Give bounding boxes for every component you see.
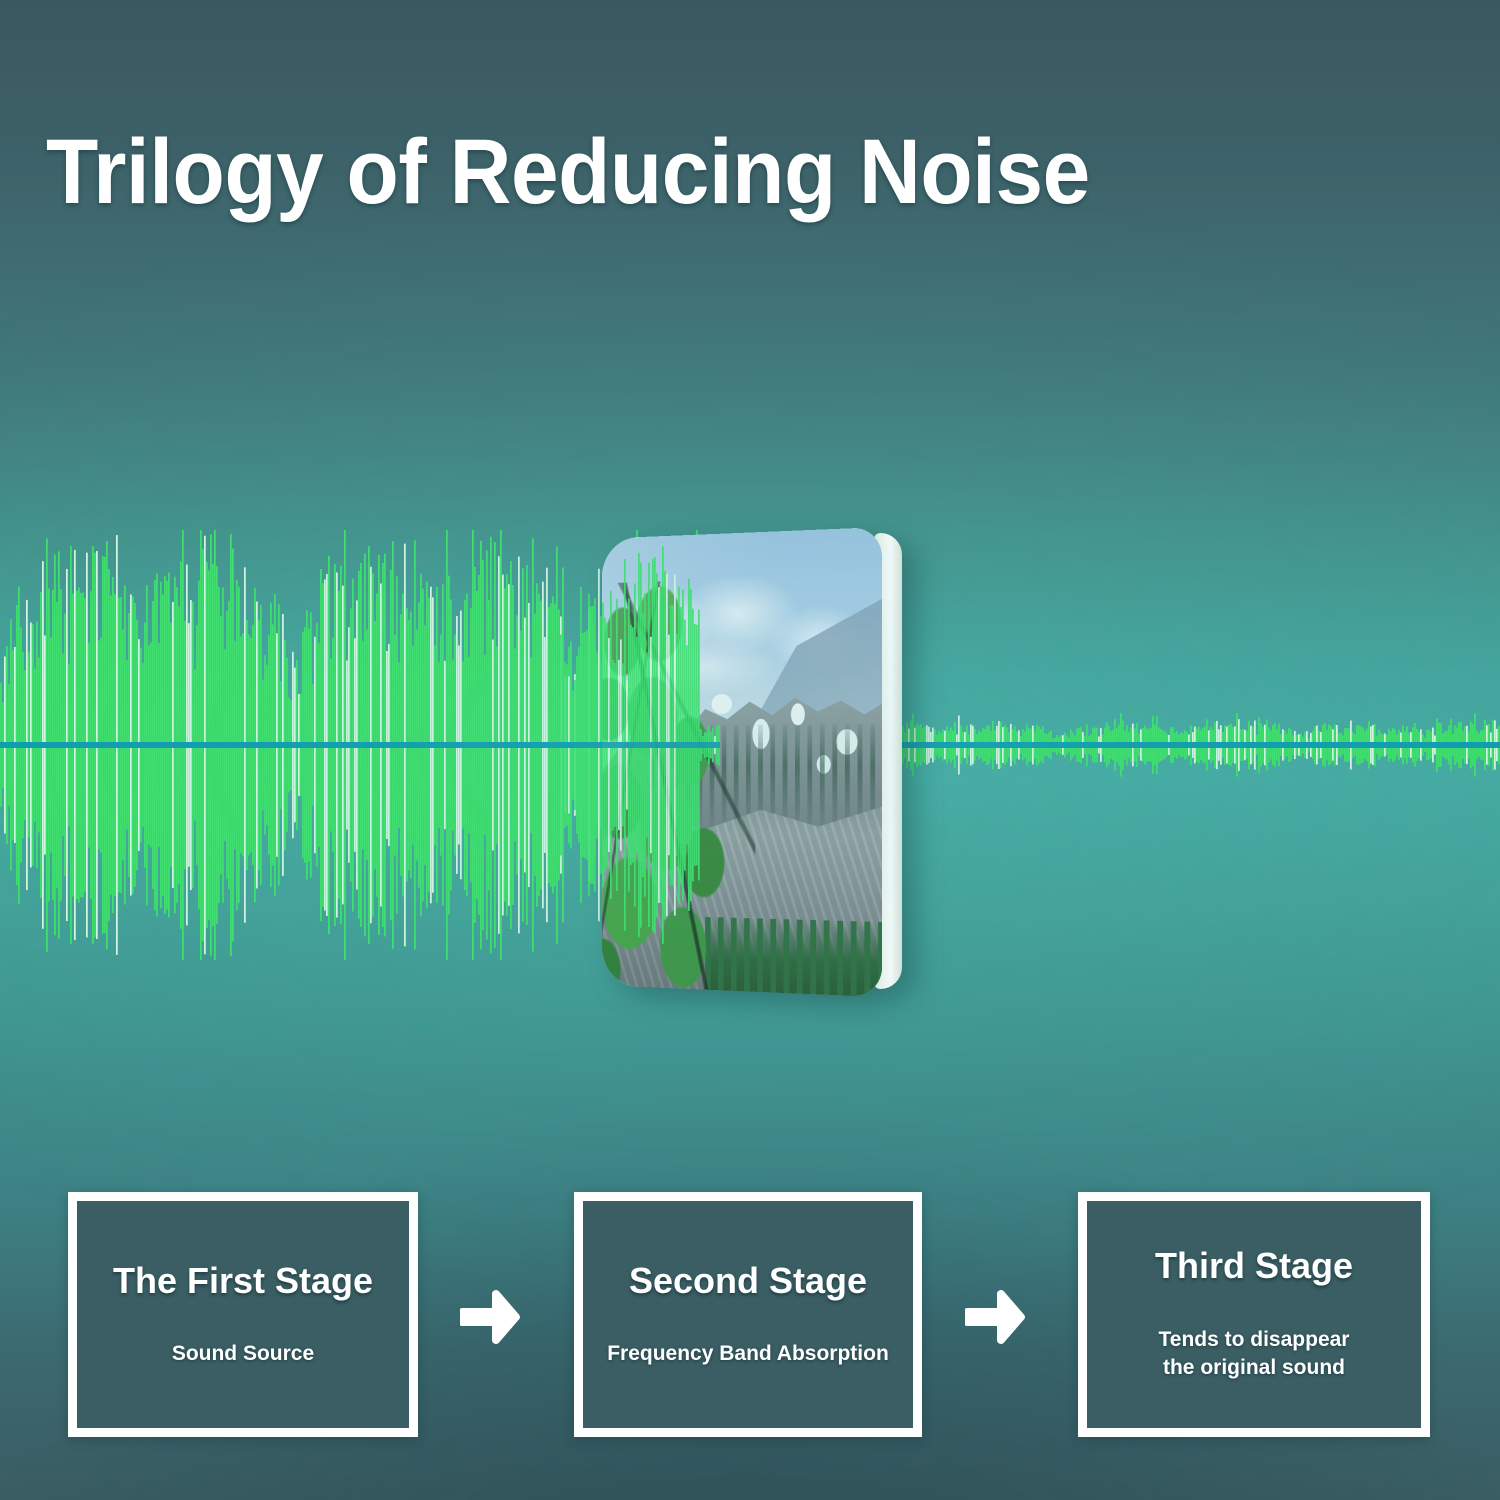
arrow-stage2-to-stage3: [965, 1288, 1027, 1346]
stage-subtitle-line1: Tends to disappear: [1159, 1326, 1350, 1354]
panel-photo-branches: [602, 578, 755, 997]
right-arrow-icon: [965, 1288, 1027, 1346]
stage-subtitle: Tends to disappear the original sound: [1159, 1326, 1350, 1383]
stage-title: The First Stage: [113, 1261, 373, 1301]
acoustic-panel[interactable]: [582, 527, 902, 997]
stage-subtitle: Frequency Band Absorption: [607, 1340, 889, 1368]
stage-box-second[interactable]: Second Stage Frequency Band Absorption: [574, 1192, 922, 1437]
stage-box-third[interactable]: Third Stage Tends to disappear the origi…: [1078, 1192, 1430, 1437]
arrow-stage1-to-stage2: [460, 1288, 522, 1346]
page-title: Trilogy of Reducing Noise: [46, 126, 1090, 218]
stage-subtitle-line2: the original sound: [1159, 1354, 1350, 1382]
stage-title: Third Stage: [1155, 1246, 1353, 1286]
stage-box-first[interactable]: The First Stage Sound Source: [68, 1192, 418, 1437]
panel-front-face: [602, 527, 882, 997]
poster-canvas: Trilogy of Reducing Noise The First Stag…: [0, 0, 1500, 1500]
right-arrow-icon: [460, 1288, 522, 1346]
stage-subtitle: Sound Source: [172, 1340, 314, 1368]
stage-title: Second Stage: [629, 1261, 867, 1301]
